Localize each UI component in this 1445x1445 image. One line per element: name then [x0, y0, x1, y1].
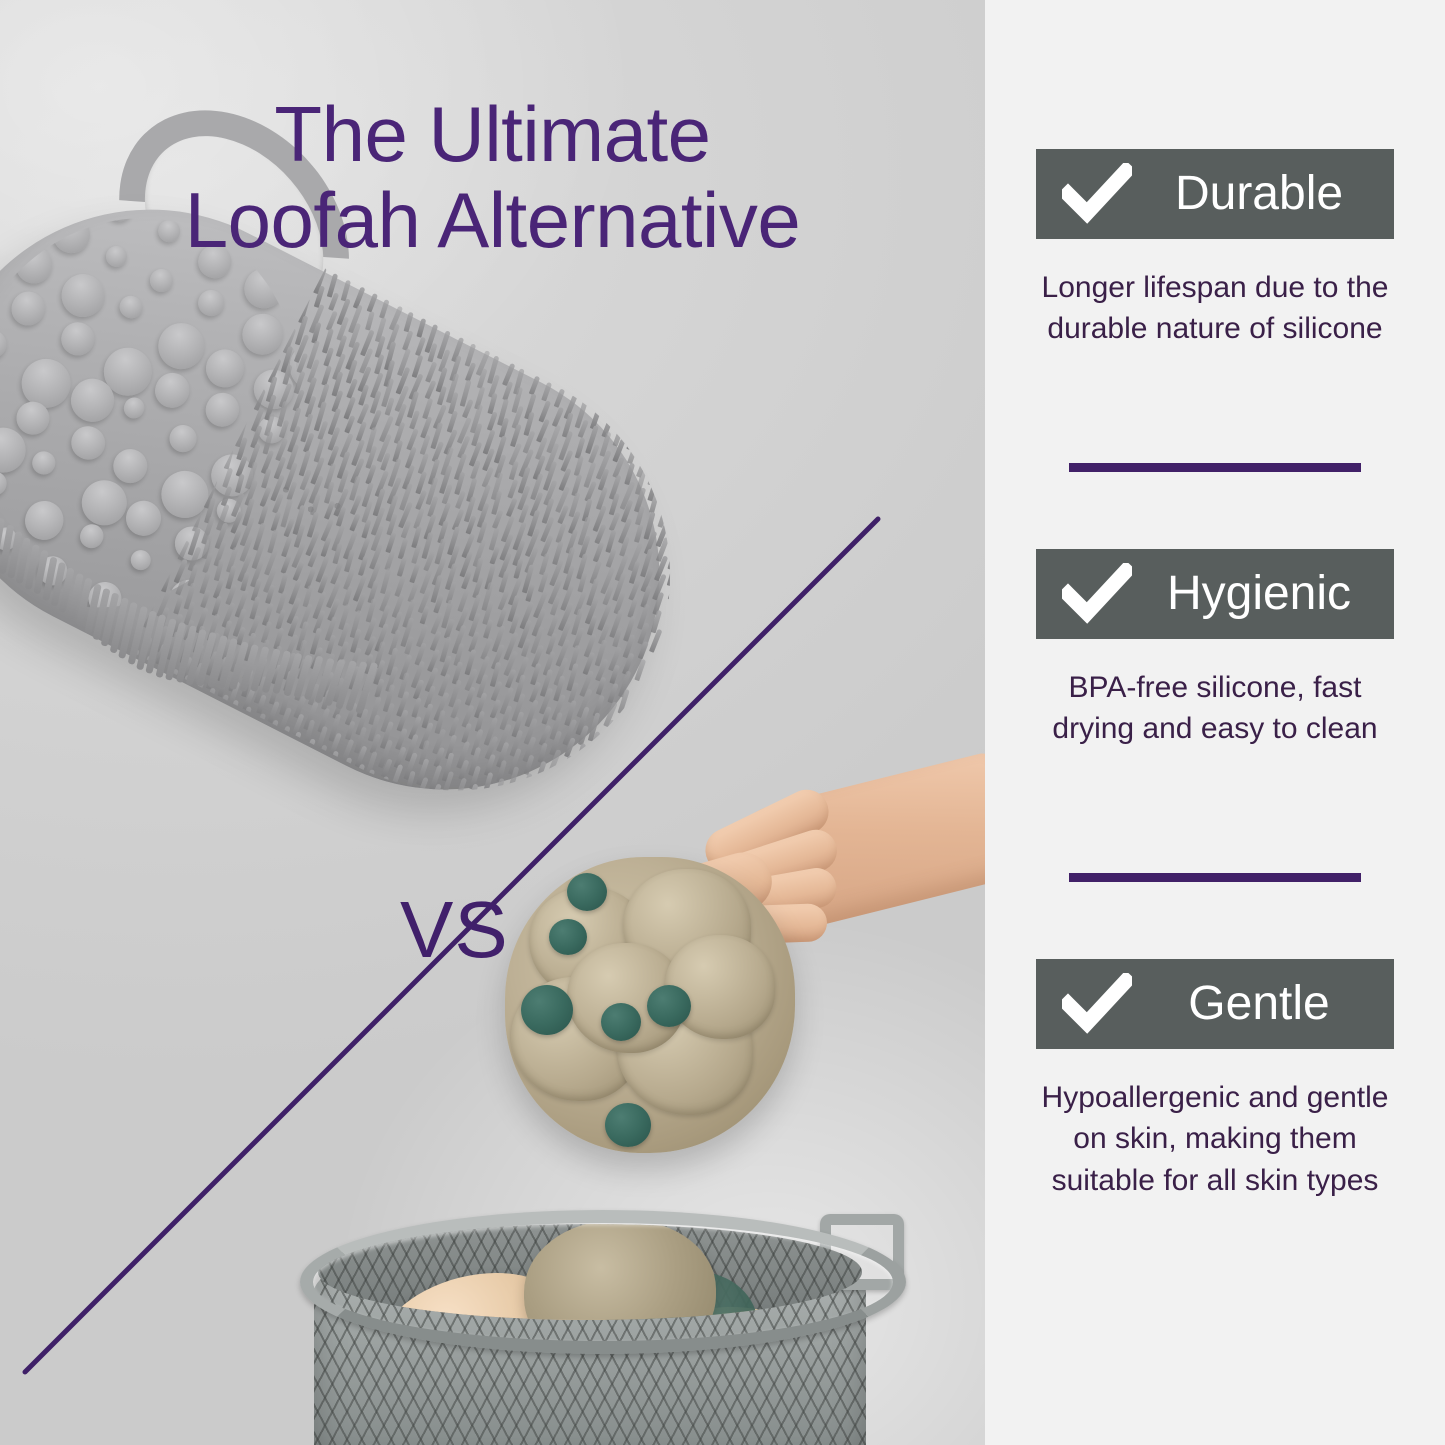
loofah-pom	[549, 919, 587, 955]
brush-nub	[200, 343, 251, 394]
feature-badge-hygienic: Hygienic	[1036, 549, 1394, 639]
loofah-pom	[521, 985, 573, 1035]
brush-bristle	[538, 742, 548, 763]
brush-bristle	[490, 833, 501, 856]
brush-bristle	[416, 318, 426, 338]
features-panel: Durable Longer lifespan due to the durab…	[985, 0, 1445, 1445]
brush-nub	[54, 266, 112, 324]
versus-label: VS	[400, 890, 509, 970]
brush-bristle	[464, 821, 477, 847]
brush-bristle	[321, 365, 332, 385]
brush-bristle	[727, 477, 740, 500]
brush-bristle	[402, 330, 413, 350]
feature-label: Durable	[1132, 170, 1394, 218]
brush-nub	[116, 292, 146, 322]
brush-nub	[0, 325, 12, 363]
feature-description: Longer lifespan due to the durable natur…	[1030, 267, 1400, 350]
feature-badge-gentle: Gentle	[1036, 959, 1394, 1049]
brush-bristle	[506, 498, 518, 518]
brush-bristle	[667, 598, 678, 617]
brush-bristle	[385, 550, 396, 570]
brush-nub	[150, 315, 213, 378]
brush-bristle	[487, 411, 498, 431]
waste-basket-image	[290, 1190, 890, 1445]
loofah-pom	[567, 873, 607, 911]
brush-nub	[194, 286, 229, 321]
brush-bristle	[556, 523, 567, 543]
brush-bristle	[541, 382, 552, 402]
brush-bristle	[490, 699, 501, 718]
loofah-pom	[605, 1103, 651, 1147]
loofah-ruffle	[665, 935, 775, 1039]
brush-bristle	[375, 776, 389, 804]
brush-bristle	[529, 376, 540, 396]
feature-description: BPA-free silicone, fast drying and easy …	[1030, 667, 1400, 750]
page-title: The Ultimate Loofah Alternative	[0, 92, 985, 264]
brush-bristle	[430, 631, 442, 652]
brush-bristle	[403, 789, 415, 812]
brush-bristle	[326, 311, 338, 331]
brush-bristle	[641, 433, 653, 453]
check-icon	[1062, 163, 1132, 225]
brush-bristle	[389, 764, 404, 793]
brush-bristle	[483, 772, 493, 793]
brush-bristle	[450, 815, 465, 842]
loofah-pom	[601, 1003, 641, 1041]
hand-holding-loofah-image	[505, 765, 975, 1185]
brush-bristle	[440, 808, 452, 832]
feature-description: Hypoallergenic and gentle on skin, makin…	[1030, 1077, 1400, 1201]
brush-bristle	[397, 556, 407, 576]
feature-hygienic: Hygienic BPA-free silicone, fast drying …	[985, 549, 1445, 750]
brush-nub	[120, 394, 148, 422]
basket-rim	[300, 1210, 906, 1354]
brush-bristle	[425, 361, 437, 382]
brush-nub	[165, 421, 201, 457]
feature-badge-durable: Durable	[1036, 149, 1394, 239]
brush-bristle	[428, 802, 439, 824]
brush-bristle	[634, 659, 646, 682]
brush-bristle	[634, 524, 644, 543]
feature-gentle: Gentle Hypoallergenic and gentle on skin…	[985, 959, 1445, 1201]
check-icon	[1062, 563, 1132, 625]
brush-nub	[145, 265, 177, 297]
brush-bristle	[554, 388, 566, 408]
check-icon	[1062, 973, 1132, 1035]
loofah-pom	[647, 985, 691, 1027]
infographic-canvas: VS The Ultimate Loofah Alternative Durab…	[0, 0, 1445, 1445]
brush-bristle	[415, 337, 426, 357]
brush-bristle	[411, 697, 421, 718]
brush-bristle	[574, 456, 584, 476]
feature-divider	[1069, 873, 1361, 882]
feature-durable: Durable Longer lifespan due to the durab…	[985, 149, 1445, 350]
brush-bristle	[607, 683, 618, 704]
brush-bristle	[387, 782, 401, 811]
feature-divider	[1069, 463, 1361, 472]
feature-label: Gentle	[1132, 980, 1394, 1028]
brush-bristle	[507, 479, 518, 499]
brush-bristle	[404, 312, 414, 332]
brush-bristle	[682, 568, 693, 588]
brush-bristle	[593, 542, 605, 562]
brush-bristle	[221, 486, 233, 506]
brush-bristle	[478, 827, 490, 849]
brush-bristle	[235, 474, 245, 494]
brush-bristle	[365, 311, 375, 331]
brush-nub	[6, 286, 51, 331]
brush-nub	[200, 387, 245, 432]
feature-label: Hygienic	[1132, 570, 1394, 618]
brush-nub	[56, 317, 100, 361]
brush-bristle	[413, 795, 426, 822]
brush-bristle	[356, 421, 367, 441]
brush-bristle	[222, 467, 233, 487]
brush-bristle	[409, 563, 420, 583]
brush-bristle	[379, 299, 389, 318]
brush-bristle	[367, 293, 379, 313]
mesh-loofah	[505, 857, 795, 1153]
brush-bristle	[425, 380, 437, 399]
product-comparison-panel: VS The Ultimate Loofah Alternative	[0, 0, 985, 1445]
brush-nub	[149, 367, 196, 414]
brush-bristle	[627, 597, 638, 617]
